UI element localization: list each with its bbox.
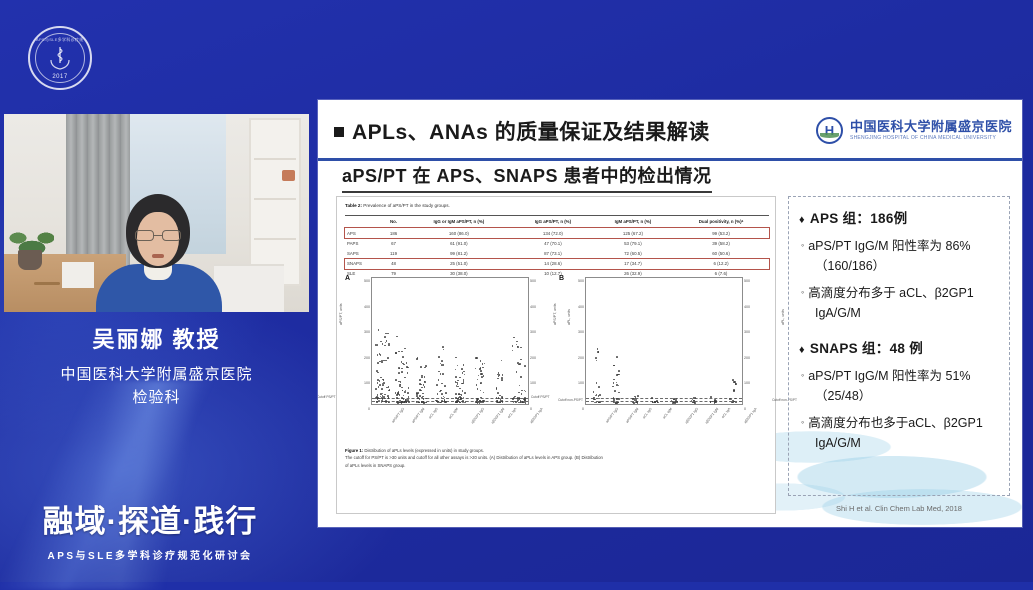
scatter-point (455, 376, 457, 378)
scatter-point (441, 360, 443, 362)
scatter-point (425, 398, 427, 400)
scatter-point (395, 379, 397, 381)
scatter-point (378, 329, 380, 331)
scatter-point (478, 375, 480, 377)
table-cell: 134 (72.0) (513, 228, 593, 239)
axis-tick-label: 300 (364, 330, 370, 334)
conference-emblem-logo: APS与SLE多学科诊疗规范化研讨会 2017 (28, 26, 92, 90)
scatter-series-column (646, 276, 662, 404)
scatter-point (593, 391, 595, 393)
scatter-point (407, 392, 409, 394)
scatter-point (440, 402, 442, 404)
scatter-point (512, 345, 514, 347)
scatter-point (408, 396, 410, 398)
note-item-continuation: （25/48） (801, 386, 1001, 406)
scatter-point (480, 360, 482, 362)
scatter-point (512, 398, 514, 400)
axis-tick-label: 100 (578, 381, 584, 385)
scatter-point (461, 383, 463, 385)
scatter-point (423, 398, 425, 400)
conference-brand-block: 融域·探道·践行 APS与SLE多学科诊疗规范化研讨会 (0, 496, 300, 562)
speaker-video-feed[interactable] (4, 114, 309, 312)
scatter-point (513, 337, 515, 339)
table-cell: 67 (382, 238, 404, 248)
scatter-point (388, 390, 390, 392)
table-cell: 25 (51.0) (405, 259, 513, 269)
scatter-point (462, 372, 464, 374)
x-axis-category-label: aβ2GP1 IgM (704, 407, 719, 425)
scatter-point (481, 373, 483, 375)
slide-subtitle: aPS/PT 在 APS、SNAPS 患者中的检出情况 (342, 162, 712, 193)
scatter-point (613, 379, 615, 381)
axis-tick-label: 200 (530, 356, 536, 360)
table-cell: 6 (12.2) (673, 259, 769, 269)
scatter-point (463, 371, 465, 373)
scatter-series-column (666, 276, 682, 404)
scatter-point (444, 385, 446, 387)
scatter-point (710, 401, 712, 403)
figure-caption-line1: Distribution of aPLs levels (expressed i… (363, 448, 484, 453)
scatter-point (501, 377, 503, 379)
table-cell: 160 (86.0) (405, 228, 513, 239)
scatter-point (516, 344, 518, 346)
scatter-point (593, 398, 595, 400)
note-group-heading: ♦APS 组：186例 (799, 207, 1001, 227)
axis-tick-label: 300 (530, 330, 536, 334)
scatter-point (377, 382, 379, 384)
scatter-point (483, 392, 485, 394)
scatter-point (419, 395, 421, 397)
slide-title-text: APLs、ANAs 的质量保证及结果解读 (352, 121, 710, 144)
scatter-point (422, 393, 424, 395)
scatter-point (377, 372, 379, 374)
scatter-point (501, 379, 503, 381)
note-group-heading-text: SNAPS 组：48 例 (810, 341, 923, 356)
axis-tick-label: 100 (530, 381, 536, 385)
panel-b-xlabels: aPS/PT IgGaPS/PT IgMaCL IgGaCL IgMaβ2GP1… (585, 407, 743, 439)
scatter-point (406, 366, 408, 368)
scatter-point (379, 384, 381, 386)
scatter-point (398, 351, 400, 353)
th-igm: IgM aPS/PT, n (%) (593, 216, 673, 228)
scatter-point (673, 398, 675, 400)
scatter-point (461, 368, 463, 370)
scatter-point (735, 398, 737, 400)
scatter-point (445, 392, 447, 394)
scatter-point (458, 393, 460, 395)
scatter-point (406, 362, 408, 364)
note-item: ◦aPS/PT IgG/M 阳性率为 51%（25/48） (799, 366, 1001, 407)
scatter-point (442, 346, 444, 348)
scatter-point (657, 402, 659, 404)
scatter-point (613, 398, 615, 400)
axis-tick-label: 100 (364, 381, 370, 385)
axis-tick-label: 500 (578, 279, 584, 283)
axis-tick-label: 300 (578, 330, 584, 334)
scatter-point (501, 396, 503, 398)
scatter-point (402, 390, 404, 392)
th-dual: Dual positivity, n (%)ᵃ (673, 216, 769, 228)
scatter-point (524, 365, 526, 367)
scatter-point (382, 398, 384, 400)
x-axis-category-label: aCL IgA (507, 407, 518, 419)
scatter-point (457, 365, 459, 367)
scatter-point (403, 364, 405, 366)
scatter-point (407, 372, 409, 374)
scatter-point (518, 392, 520, 394)
table-row: SNAPS4825 (51.0)14 (28.6)17 (34.7)6 (12.… (345, 259, 769, 269)
scatter-point (384, 394, 386, 396)
slide-title: APLs、ANAs 的质量保证及结果解读 (334, 116, 710, 146)
scatter-point (401, 387, 403, 389)
scatter-series-column (471, 276, 487, 404)
scatter-point (384, 336, 386, 338)
note-item-continuation: IgA/G/M (801, 433, 1001, 453)
table-cell: 72 (60.5) (593, 248, 673, 258)
scatter-point (733, 389, 735, 391)
scatter-point (437, 393, 439, 395)
scatter-point (616, 356, 618, 358)
scatter-point (419, 379, 421, 381)
scatter-series-column (393, 276, 409, 404)
scatter-point (480, 390, 482, 392)
scatter-panel-b: B aPS/PT, units aPL, units 0100200300400… (557, 273, 767, 441)
note-group: ♦APS 组：186例◦aPS/PT IgG/M 阳性率为 86%（160/18… (799, 207, 1001, 323)
scatter-point (675, 399, 677, 401)
scatter-point (457, 386, 459, 388)
speaker-affiliation: 中国医科大学附属盛京医院 检验科 (0, 364, 313, 409)
speaker-glasses-icon (135, 230, 181, 241)
note-item: ◦高滴度分布也多于aCL、β2GP1IgA/G/M (799, 413, 1001, 454)
scatter-point (475, 368, 477, 370)
scatter-point (616, 402, 618, 404)
scatter-point (416, 395, 418, 397)
scatter-series-column (627, 276, 643, 404)
scatter-point (401, 397, 403, 399)
table-cell: 60 (50.6) (673, 248, 769, 258)
scatter-series-column (510, 276, 526, 404)
circle-bullet-icon: ◦ (801, 370, 804, 380)
x-axis-category-label: aβ2GP1 IgG (684, 407, 699, 424)
x-axis-category-label: aPS/PT IgG (605, 407, 619, 424)
scatter-point (480, 397, 482, 399)
scatter-point (618, 392, 620, 394)
scatter-point (599, 398, 601, 400)
emblem-inner-ring: APS与SLE多学科诊疗规范化研讨会 2017 (35, 33, 85, 83)
scatter-point (455, 369, 457, 371)
circle-bullet-icon: ◦ (801, 287, 804, 297)
speaker-mouth (152, 254, 164, 258)
scatter-point (456, 400, 458, 402)
scatter-point (436, 384, 438, 386)
scatter-point (396, 336, 398, 338)
scatter-point (387, 333, 389, 335)
th-group (345, 216, 382, 228)
scatter-point (735, 383, 737, 385)
scatter-point (596, 382, 598, 384)
note-item: ◦aPS/PT IgG/M 阳性率为 86%（160/186） (799, 236, 1001, 277)
table-cell: 48 (382, 259, 404, 269)
note-item-continuation: （160/186） (801, 256, 1001, 276)
scatter-point (476, 399, 478, 401)
scatter-point (408, 401, 410, 403)
speaker-name: 吴丽娜 教授 (0, 322, 313, 354)
scatter-point (459, 377, 461, 379)
panel-a-yticks-left: 0100200300400500 (351, 277, 370, 405)
scatter-point (445, 401, 447, 403)
hospital-name-en: SHENGJING HOSPITAL OF CHINA MEDICAL UNIV… (850, 135, 1012, 141)
scatter-point (598, 402, 600, 404)
scatter-point (496, 400, 498, 402)
scatter-point (459, 388, 461, 390)
axis-tick-label: 200 (744, 356, 750, 360)
diamond-bullet-icon: ♦ (799, 214, 805, 226)
figure-caption-line3: of aPLs levels in SNAPS group. (345, 462, 767, 469)
scatter-point (464, 392, 466, 394)
scatter-point (482, 367, 484, 369)
scatter-point (517, 362, 519, 364)
scatter-point (618, 374, 620, 376)
scatter-point (514, 401, 516, 403)
scatter-point (401, 368, 403, 370)
table-cell: 17 (34.7) (593, 259, 673, 269)
scatter-point (614, 390, 616, 392)
video-shelf-toy (282, 170, 295, 181)
x-axis-category-label: aβ2GP1 IgM (490, 407, 505, 425)
cutoff-label: Cutoff PS/PT (531, 395, 550, 399)
scatter-point (502, 401, 504, 403)
scatter-point (423, 402, 425, 404)
scatter-point (518, 364, 520, 366)
x-axis-category-label: aPS/PT IgG (391, 407, 405, 424)
panel-b-letter: B (559, 275, 564, 282)
scatter-point (651, 397, 653, 399)
scatter-point (463, 397, 465, 399)
scatter-point (421, 387, 423, 389)
scatter-point (514, 396, 516, 398)
scatter-point (388, 397, 390, 399)
x-axis-category-label: aCL IgG (428, 407, 439, 419)
panel-b-ylabel: aPS/PT, units (553, 303, 557, 325)
table-cell: PAPS (345, 238, 382, 248)
emblem-arc-text: APS与SLE多学科诊疗规范化研讨会 (36, 37, 84, 43)
caduceus-heart-icon (47, 44, 73, 72)
presentation-slide[interactable]: APLs、ANAs 的质量保证及结果解读 H 中国医科大学附属盛京医院 SHEN… (318, 100, 1022, 527)
scatter-point (613, 382, 615, 384)
video-bed (214, 264, 284, 312)
emblem-year: 2017 (36, 74, 84, 80)
scatter-point (384, 345, 386, 347)
scatter-point (522, 402, 524, 404)
scatter-point (502, 374, 504, 376)
axis-tick-label: 500 (364, 279, 370, 283)
scatter-series-column (374, 276, 390, 404)
scatter-point (618, 385, 620, 387)
scatter-point (520, 402, 522, 404)
slide-citation: Shi H et al. Clin Chem Lab Med, 2018 (788, 504, 1010, 513)
table-caption-label: Table 2: (345, 203, 362, 208)
scatter-point (381, 400, 383, 402)
scatter-point (375, 388, 377, 390)
paper-figure-card: Table 2: Prevalence of aPS/PT in the stu… (336, 196, 776, 514)
scatter-point (381, 362, 383, 364)
scatter-point (519, 385, 521, 387)
scatter-point (416, 358, 418, 360)
scatter-point (401, 371, 403, 373)
scatter-point (656, 400, 658, 402)
table-cell: 119 (382, 248, 404, 258)
scatter-point (481, 376, 483, 378)
diamond-bullet-icon: ♦ (799, 344, 805, 356)
note-group-heading-text: APS 组：186例 (810, 211, 908, 226)
scatter-point (388, 345, 390, 347)
scatter-point (616, 374, 618, 376)
table-cell: 47 (70.1) (513, 238, 593, 248)
axis-tick-label: 100 (744, 381, 750, 385)
table-cell: 14 (28.6) (513, 259, 593, 269)
scatter-point (637, 395, 639, 397)
table-caption: Table 2: Prevalence of aPS/PT in the stu… (345, 203, 450, 208)
scatter-point (402, 356, 404, 358)
x-axis-category-label: aPS/PT IgM (411, 407, 425, 424)
scatter-point (484, 363, 486, 365)
scatter-point (403, 402, 405, 404)
scatter-point (377, 362, 379, 364)
scatter-point (597, 348, 599, 350)
header-divider-rule (318, 158, 1022, 161)
speaker-info-block: 吴丽娜 教授 中国医科大学附属盛京医院 检验科 (0, 322, 313, 409)
scatter-point (385, 360, 387, 362)
table-header-row: No. IgG or IgM aPS/PT, n (%) IgG aPS/PT,… (345, 216, 769, 228)
scatter-point (441, 383, 443, 385)
scatter-point (596, 360, 598, 362)
video-shelf-unit (249, 118, 301, 286)
scatter-point (501, 360, 503, 362)
circle-bullet-icon: ◦ (801, 240, 804, 250)
scatter-point (674, 401, 676, 403)
scatter-point (710, 396, 712, 398)
table-cell: SNAPS (345, 259, 382, 269)
scatter-point (376, 370, 378, 372)
scatter-point (438, 379, 440, 381)
panel-a-yticks-right: 0100200300400500 (530, 277, 551, 405)
scatter-point (403, 395, 405, 397)
scatter-series-column (685, 276, 701, 404)
panel-a-xlabels: aPS/PT IgGaPS/PT IgMaCL IgGaCL IgMaβ2GP1… (371, 407, 529, 439)
scatter-point (732, 402, 734, 404)
scatter-point (521, 390, 523, 392)
figure-caption: Figure 1: Distribution of aPLs levels (e… (345, 447, 767, 469)
scatter-point (501, 400, 503, 402)
scatter-point (438, 371, 440, 373)
scatter-point (483, 401, 485, 403)
scatter-point (376, 344, 378, 346)
scatter-point (418, 402, 420, 404)
scatter-series-column (413, 276, 429, 404)
x-axis-category-label: aCL IgM (448, 407, 459, 419)
scatter-point (406, 401, 408, 403)
scatter-point (455, 393, 457, 395)
scatter-point (383, 360, 385, 362)
scatter-point (463, 364, 465, 366)
scatter-point (480, 367, 482, 369)
scatter-point (444, 397, 446, 399)
scatter-series-column (588, 276, 604, 404)
scatter-point (383, 396, 385, 398)
scatter-point (519, 363, 521, 365)
scatter-point (376, 401, 378, 403)
figure-caption-label: Figure 1: (345, 448, 363, 453)
axis-tick-label: 0 (582, 407, 584, 411)
scatter-point (426, 402, 428, 404)
axis-tick-label: 0 (530, 407, 532, 411)
scatter-point (396, 394, 398, 396)
scatter-point (497, 378, 499, 380)
scatter-point (465, 401, 467, 403)
scatter-point (379, 380, 381, 382)
scatter-point (419, 398, 421, 400)
hospital-name-block: 中国医科大学附属盛京医院 SHENGJING HOSPITAL OF CHINA… (850, 120, 1012, 141)
scatter-point (652, 401, 654, 403)
scatter-point (615, 402, 617, 404)
panel-b-plot-area (585, 277, 743, 405)
x-axis-category-label: aCL IgA (721, 407, 732, 419)
axis-tick-label: 500 (744, 279, 750, 283)
axis-tick-label: 400 (578, 305, 584, 309)
scatter-series-column (724, 276, 740, 404)
panel-a-plot-area (371, 277, 529, 405)
scatter-point (462, 400, 464, 402)
scatter-series-column (491, 276, 507, 404)
scatter-point (399, 368, 401, 370)
scatter-point (385, 342, 387, 344)
scatter-point (599, 394, 601, 396)
scatter-point (408, 387, 410, 389)
scatter-point (407, 399, 409, 401)
scatter-point (388, 402, 390, 404)
panel-b-ylabel-right: aPL, units (781, 309, 785, 325)
slide-header: APLs、ANAs 的质量保证及结果解读 H 中国医科大学附属盛京医院 SHEN… (318, 108, 1022, 156)
scatter-point (382, 393, 384, 395)
conference-brand-title: 融域·探道·践行 (0, 496, 300, 541)
table-cell: 99 (81.2) (405, 248, 513, 258)
scatter-point (516, 341, 518, 343)
table-cell: 186 (382, 228, 404, 239)
scatter-point (520, 359, 522, 361)
axis-tick-label: 500 (530, 279, 536, 283)
scatter-point (455, 357, 457, 359)
scatter-point (383, 382, 385, 384)
scatter-point (513, 402, 515, 404)
scatter-point (440, 373, 442, 375)
scatter-point (475, 357, 477, 359)
scatter-point (694, 402, 696, 404)
note-item-text: aPS/PT IgG/M 阳性率为 86% (808, 239, 970, 253)
scatter-point (388, 386, 390, 388)
speaker-affiliation-line2: 检验科 (0, 387, 313, 410)
scatter-point (676, 401, 678, 403)
scatter-point (425, 365, 427, 367)
scatter-point (525, 391, 527, 393)
scatter-point (396, 397, 398, 399)
prevalence-table: No. IgG or IgM aPS/PT, n (%) IgG aPS/PT,… (345, 215, 769, 279)
scatter-point (387, 357, 389, 359)
scatter-point (399, 394, 401, 396)
scatter-point (442, 373, 444, 375)
hospital-logo: H 中国医科大学附属盛京医院 SHENGJING HOSPITAL OF CHI… (816, 117, 1012, 144)
table-cell: 61 (91.0) (405, 238, 513, 248)
scatter-point (616, 398, 618, 400)
